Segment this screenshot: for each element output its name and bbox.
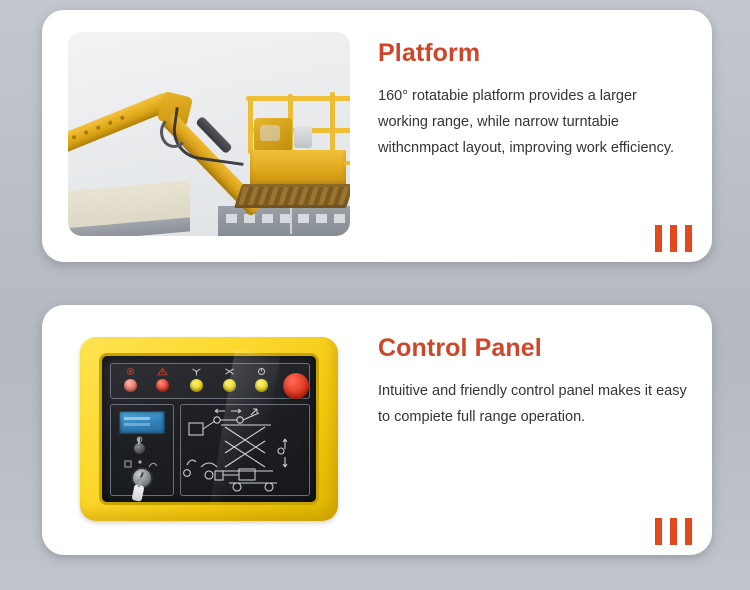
page-title: Platform — [378, 40, 688, 68]
three-bars-mark — [655, 225, 692, 252]
control-panel-text-column: Control Panel Intuitive and friendly con… — [378, 335, 688, 430]
basket-post-icon — [248, 96, 253, 154]
rotate-symbol-icon — [223, 367, 236, 376]
panel-faceplate — [102, 356, 316, 502]
panel-left-section — [110, 404, 174, 496]
indicator-strip — [110, 363, 310, 399]
bar-mark-3 — [685, 225, 692, 252]
hose-loop-icon — [160, 116, 188, 148]
power-symbol-icon — [255, 367, 268, 376]
emergency-stop-button[interactable] — [283, 373, 309, 399]
page-root: Platform 160° rotatabie platform provide… — [0, 0, 750, 590]
platform-photo — [68, 32, 350, 236]
panel-operation-diagram — [180, 404, 310, 496]
key-icon — [131, 484, 144, 502]
selector-knob[interactable] — [134, 443, 145, 454]
bar-mark-2 — [670, 518, 677, 545]
indicator-light-3 — [190, 379, 203, 392]
bar-mark-1 — [655, 518, 662, 545]
basket-post-icon — [330, 92, 335, 154]
grated-floor-icon — [234, 184, 350, 208]
feature-card-platform[interactable]: Platform 160° rotatabie platform provide… — [42, 10, 712, 262]
indicator-light-2 — [156, 379, 169, 392]
three-bars-mark — [655, 518, 692, 545]
platform-text-column: Platform 160° rotatabie platform provide… — [378, 40, 688, 162]
bar-mark-1 — [655, 225, 662, 252]
fan-symbol-icon — [190, 367, 203, 376]
warning-symbol-icon — [124, 367, 137, 376]
scissor-lift-diagram-icon — [181, 405, 309, 495]
alert-symbol-icon — [156, 367, 169, 376]
bar-mark-2 — [670, 225, 677, 252]
control-panel-photo — [68, 325, 350, 533]
indicator-light-1 — [124, 379, 137, 392]
feature-card-control-panel[interactable]: Control Panel Intuitive and friendly con… — [42, 305, 712, 555]
platform-description: 160° rotatabie platform provides a large… — [378, 83, 688, 162]
page-title: Control Panel — [378, 335, 688, 363]
control-panel-description: Intuitive and friendly control panel mak… — [378, 378, 688, 431]
control-panel-scene — [68, 325, 350, 533]
basket-control-box-icon — [294, 126, 312, 148]
indicator-light-4 — [223, 379, 236, 392]
indicator-light-5 — [255, 379, 268, 392]
bar-mark-3 — [685, 518, 692, 545]
work-basket-icon — [250, 150, 346, 188]
lcd-display — [119, 411, 165, 434]
panel-housing — [80, 337, 338, 521]
building-right-icon — [218, 206, 350, 236]
turntable-icon — [254, 118, 292, 152]
